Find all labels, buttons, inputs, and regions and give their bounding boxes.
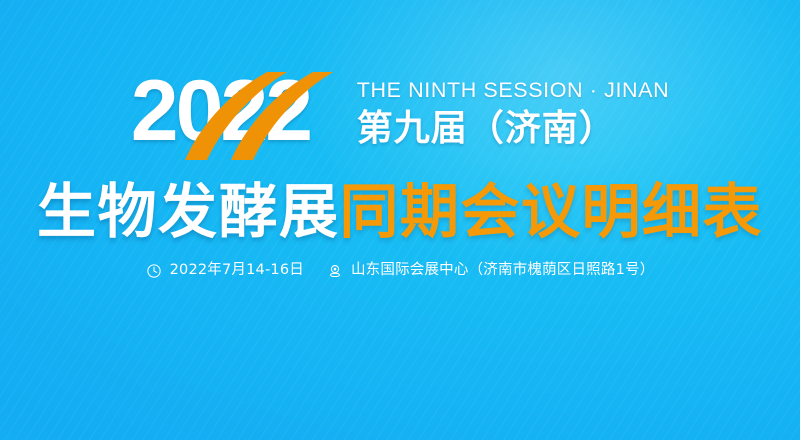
session-block: THE NINTH SESSION · JINAN 第九届（济南） — [357, 78, 669, 147]
event-banner: 2022 THE NINTH SESSION · JINAN 第九届（济南） 生… — [0, 0, 800, 440]
event-date: 2022年7月14-16日 — [170, 263, 304, 279]
clock-icon — [146, 262, 163, 279]
main-title: 生物发酵展同期会议明细表 — [0, 182, 800, 241]
year-text: 2022 — [131, 68, 310, 154]
main-title-orange-part: 同期会议明细表 — [340, 177, 764, 246]
main-title-white-part: 生物发酵展 — [37, 177, 340, 246]
headline-row: 2022 THE NINTH SESSION · JINAN 第九届（济南） — [0, 78, 800, 156]
session-chinese-title: 第九届（济南） — [357, 111, 669, 147]
banner-content: 2022 THE NINTH SESSION · JINAN 第九届（济南） 生… — [0, 0, 800, 440]
event-meta-row: 2022年7月14-16日 山东国际会展中心（济南市槐荫区日照路1号） — [0, 262, 800, 279]
location-pin-icon — [327, 262, 344, 279]
session-english-title: THE NINTH SESSION · JINAN — [357, 80, 669, 102]
year-lockup: 2022 — [131, 78, 339, 156]
event-venue: 山东国际会展中心（济南市槐荫区日照路1号） — [351, 263, 654, 279]
